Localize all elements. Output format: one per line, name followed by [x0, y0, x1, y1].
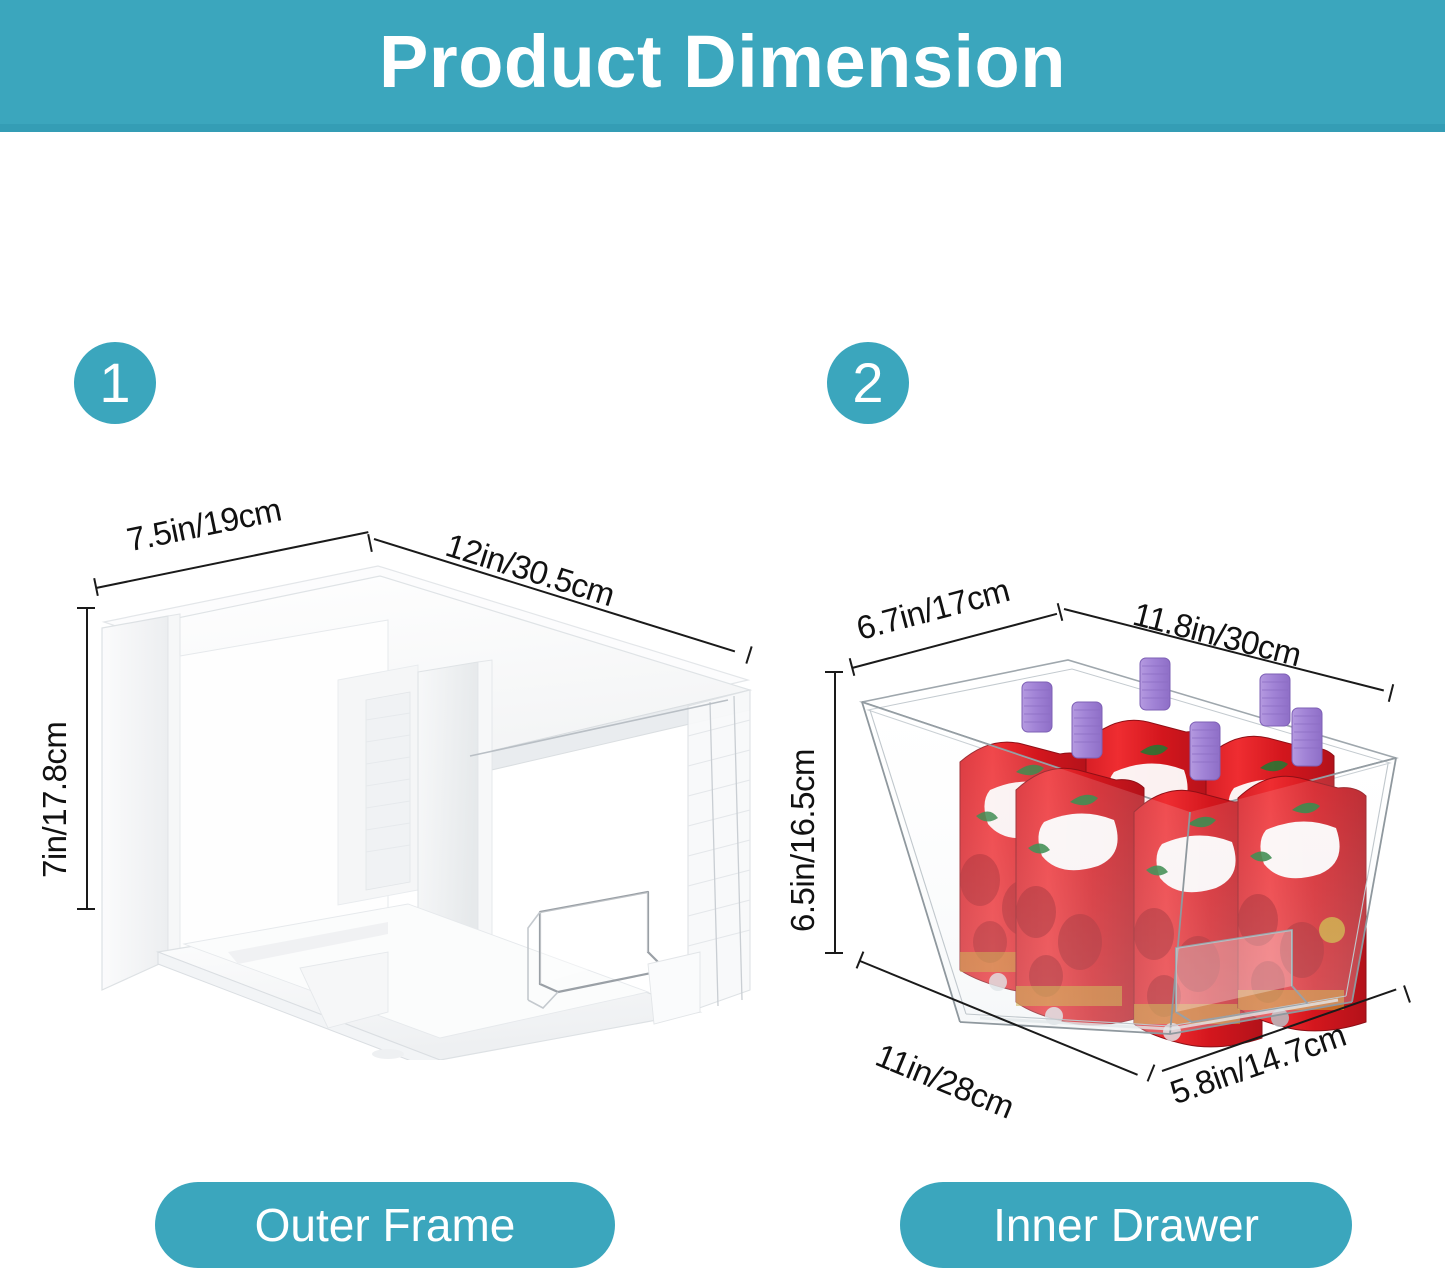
dim-outer-height: 7in/17.8cm: [38, 722, 71, 878]
dimtick-outer-height-bottom: [77, 908, 95, 910]
dim-outer-depth: 7.5in/19cm: [124, 493, 284, 557]
dimtick-outer-height-top: [77, 607, 95, 609]
step-badge-2-label: 2: [852, 355, 883, 411]
dimtick-drawer-height-top: [825, 671, 843, 673]
caption-pill-inner-drawer-label: Inner Drawer: [993, 1202, 1259, 1248]
dimtick-drawer-top-depth-end: [1057, 603, 1064, 621]
dimtick-outer-depth-end: [367, 534, 373, 552]
dimtick-drawer-height-bottom: [825, 952, 843, 954]
caption-pill-outer-frame: Outer Frame: [155, 1182, 615, 1268]
outer-frame-illustration: [88, 560, 768, 1060]
dimline-drawer-height: [834, 672, 836, 954]
page-title: Product Dimension: [0, 0, 1445, 124]
dim-drawer-height: 6.5in/16.5cm: [786, 749, 819, 932]
caption-pill-outer-frame-label: Outer Frame: [255, 1202, 516, 1248]
caption-pill-inner-drawer: Inner Drawer: [900, 1182, 1352, 1268]
banner-underline: [0, 124, 1445, 132]
step-badge-1-label: 1: [99, 355, 130, 411]
header-banner: Product Dimension: [0, 0, 1445, 132]
white-open-frame-icon: [88, 560, 768, 1060]
step-badge-2: 2: [827, 342, 909, 424]
dimtick-drawer-bottom-width-end: [1147, 1064, 1156, 1081]
dimline-outer-height: [86, 608, 88, 910]
inner-drawer-illustration: [840, 630, 1420, 1060]
step-badge-1: 1: [74, 342, 156, 424]
clear-storage-bin-icon: [840, 630, 1420, 1060]
product-dimension-infographic: Product Dimension 1 2: [0, 0, 1445, 1276]
